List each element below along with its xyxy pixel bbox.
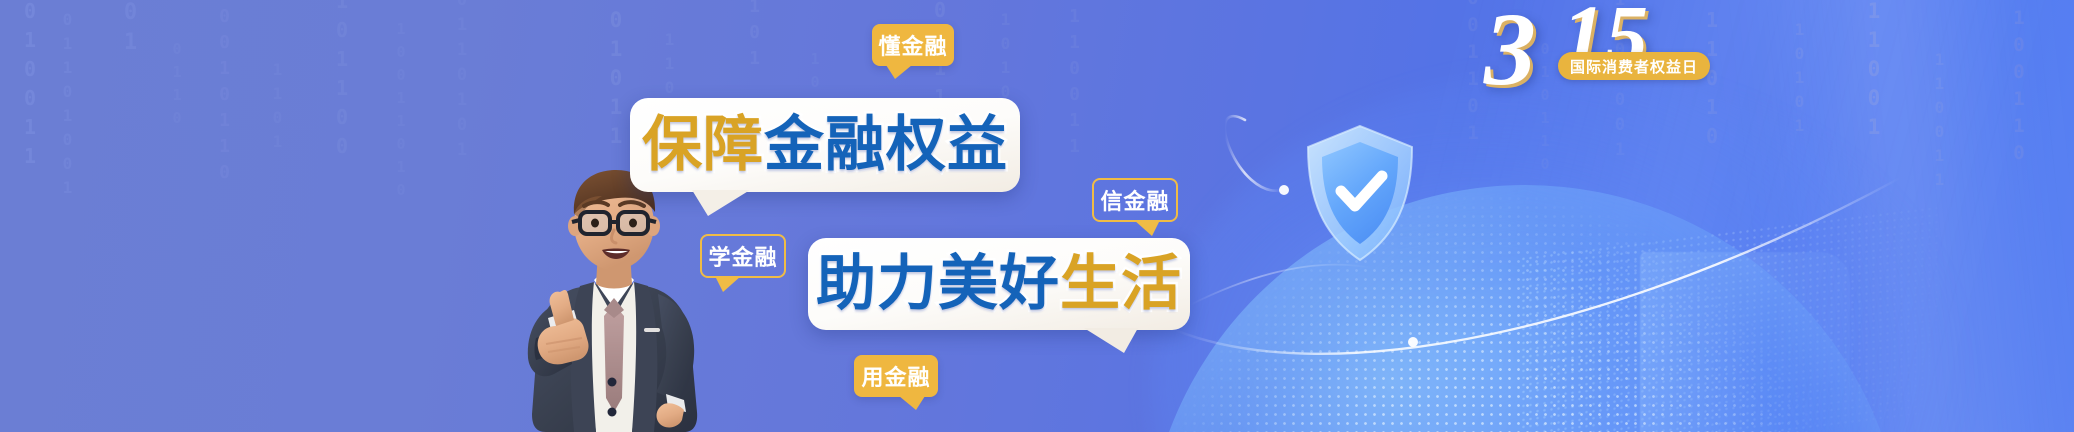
binary-column: 0101 xyxy=(744,0,765,74)
binary-column: 1001 xyxy=(118,0,143,60)
binary-column: 1010 xyxy=(996,10,1015,106)
shield-check-icon xyxy=(1300,122,1420,264)
consumer-rights-day-label: 国际消费者权益日 xyxy=(1558,52,1710,80)
headline-line1-blue: 金融权益 xyxy=(764,115,1008,175)
tag-xue-jinrong[interactable]: 学金融 xyxy=(700,234,786,278)
binary-column: 1001011 xyxy=(604,0,628,153)
binary-column: 1010011 xyxy=(18,0,42,173)
binary-column: 10011010 xyxy=(392,20,410,204)
headline-line2-gold: 生活 xyxy=(1060,254,1182,314)
binary-column: 0110 xyxy=(168,40,186,132)
dotted-globe-icon xyxy=(1145,185,1905,432)
tag-xin-jinrong[interactable]: 信金融 xyxy=(1092,178,1178,222)
binary-column: 10101 xyxy=(1790,20,1809,140)
binary-column: 0101100 xyxy=(330,0,354,163)
logo-number-3: 3 xyxy=(1484,0,1536,102)
binary-column: 01101001 xyxy=(58,10,77,202)
logo-315: 3 15 国际消费者权益日 xyxy=(1484,0,1714,104)
binary-column: 0110101 xyxy=(452,0,472,165)
binary-column: 1101 xyxy=(268,60,287,156)
banner-root: 1010011011010011001011010010110110101011… xyxy=(0,0,2074,432)
headline-bubble-secondary: 助力美好生活 xyxy=(808,238,1190,330)
headline-line1-gold: 保障 xyxy=(642,115,764,175)
binary-column: 0100110 xyxy=(2008,0,2030,169)
binary-column: 011001 xyxy=(1862,0,1886,144)
binary-column: 0110011 xyxy=(1064,0,1085,162)
headline-bubble-primary: 保障金融权益 xyxy=(630,98,1020,192)
binary-column: 110011 xyxy=(1930,50,1949,194)
tag-yong-jinrong[interactable]: 用金融 xyxy=(854,355,938,397)
binary-column: 10010110 xyxy=(214,0,235,188)
headline-line2-blue: 助力美好 xyxy=(816,254,1060,314)
tag-dong-jinrong[interactable]: 懂金融 xyxy=(872,24,954,66)
